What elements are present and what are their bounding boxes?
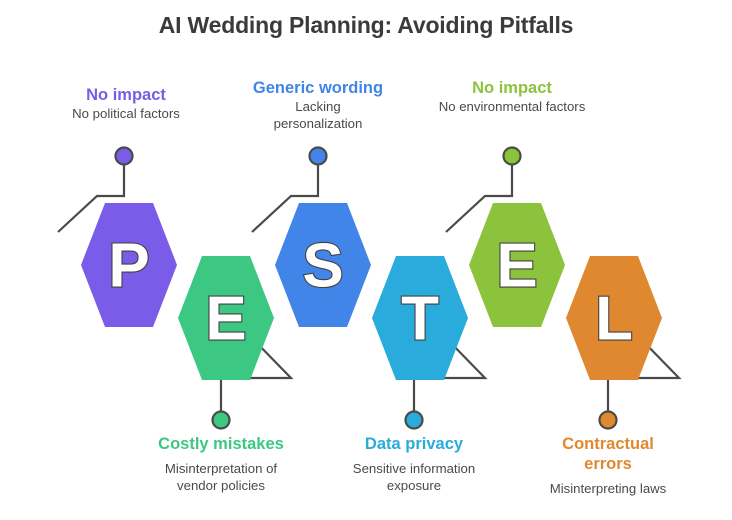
callout-description-social: Lacking personalization — [228, 98, 408, 132]
infographic-canvas: AI Wedding Planning: Avoiding Pitfalls — [0, 0, 732, 520]
callout-political: No impact No political factors — [36, 85, 216, 126]
dot-economic[interactable] — [213, 412, 230, 429]
hexagon-letter-environmental: E — [496, 232, 537, 301]
dot-technological[interactable] — [406, 412, 423, 429]
dot-political[interactable] — [116, 148, 133, 165]
hexagon-letter-economic: E — [205, 285, 246, 354]
hexagon-letter-legal: L — [595, 285, 633, 354]
callout-heading-economic: Costly mistakes — [131, 434, 311, 454]
callout-description-political: No political factors — [36, 105, 216, 122]
callout-legal: Contractual errors Misinterpreting laws — [518, 434, 698, 497]
dot-environmental[interactable] — [504, 148, 521, 165]
callout-environmental: No impact No environmental factors — [422, 78, 602, 119]
callout-heading-environmental: No impact — [422, 78, 602, 98]
callout-description-technological: Sensitive information exposure — [324, 460, 504, 494]
callout-description-economic: Misinterpretation of vendor policies — [131, 460, 311, 494]
callout-heading-legal: Contractual errors — [518, 434, 698, 474]
callout-economic: Costly mistakes Misinterpretation of ven… — [131, 434, 311, 494]
hexagon-letter-technological: T — [401, 285, 439, 354]
dot-legal[interactable] — [600, 412, 617, 429]
callout-social: Generic wording Lacking personalization — [228, 78, 408, 136]
callout-heading-social: Generic wording — [228, 78, 408, 98]
callout-description-legal: Misinterpreting laws — [518, 480, 698, 497]
callout-heading-political: No impact — [36, 85, 216, 105]
hexagon-letter-political: P — [108, 232, 149, 301]
callout-heading-technological: Data privacy — [324, 434, 504, 454]
dot-social[interactable] — [310, 148, 327, 165]
callout-description-environmental: No environmental factors — [422, 98, 602, 115]
hexagon-letter-social: S — [302, 232, 343, 301]
callout-technological: Data privacy Sensitive information expos… — [324, 434, 504, 494]
